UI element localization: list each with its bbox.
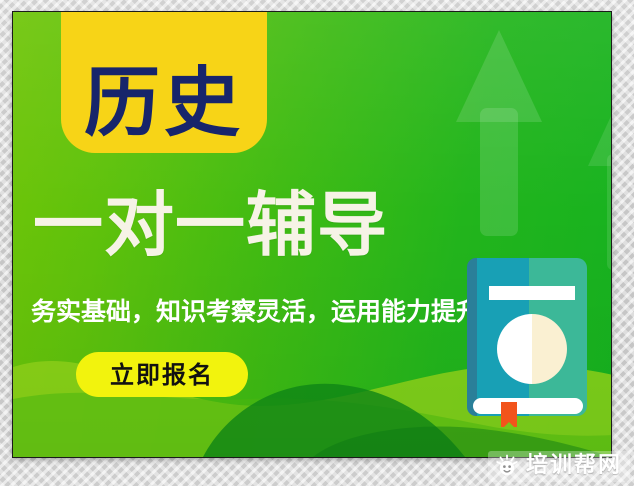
book-icon — [463, 252, 593, 427]
page-title: 一对一辅导 — [33, 190, 493, 260]
arrow-up-icon-secondary — [588, 90, 612, 270]
page-backdrop: 历史 一对一辅导 务实基础，知识考察灵活，运用能力提升 立即报名 — [0, 0, 634, 486]
promo-banner: 历史 一对一辅导 务实基础，知识考察灵活，运用能力提升 立即报名 — [12, 11, 612, 458]
sun-face-eye-right — [508, 465, 511, 468]
sun-face-disc — [500, 461, 514, 475]
enroll-now-button-label: 立即报名 — [110, 363, 214, 387]
book-bookmark — [501, 402, 517, 427]
arrow-up-stem — [607, 154, 612, 270]
watermark: 培训帮网 — [488, 451, 630, 482]
enroll-now-button[interactable]: 立即报名 — [76, 352, 248, 397]
subtitle-text: 务实基础，知识考察灵活，运用能力提升 — [31, 297, 491, 327]
subject-badge: 历史 — [61, 11, 267, 153]
watermark-label: 培训帮网 — [526, 455, 622, 477]
book-pages — [473, 398, 583, 414]
subject-badge-label: 历史 — [84, 65, 244, 141]
sun-face-eye-left — [503, 465, 506, 468]
book-title-band — [489, 286, 575, 300]
sun-face-icon — [495, 454, 519, 478]
